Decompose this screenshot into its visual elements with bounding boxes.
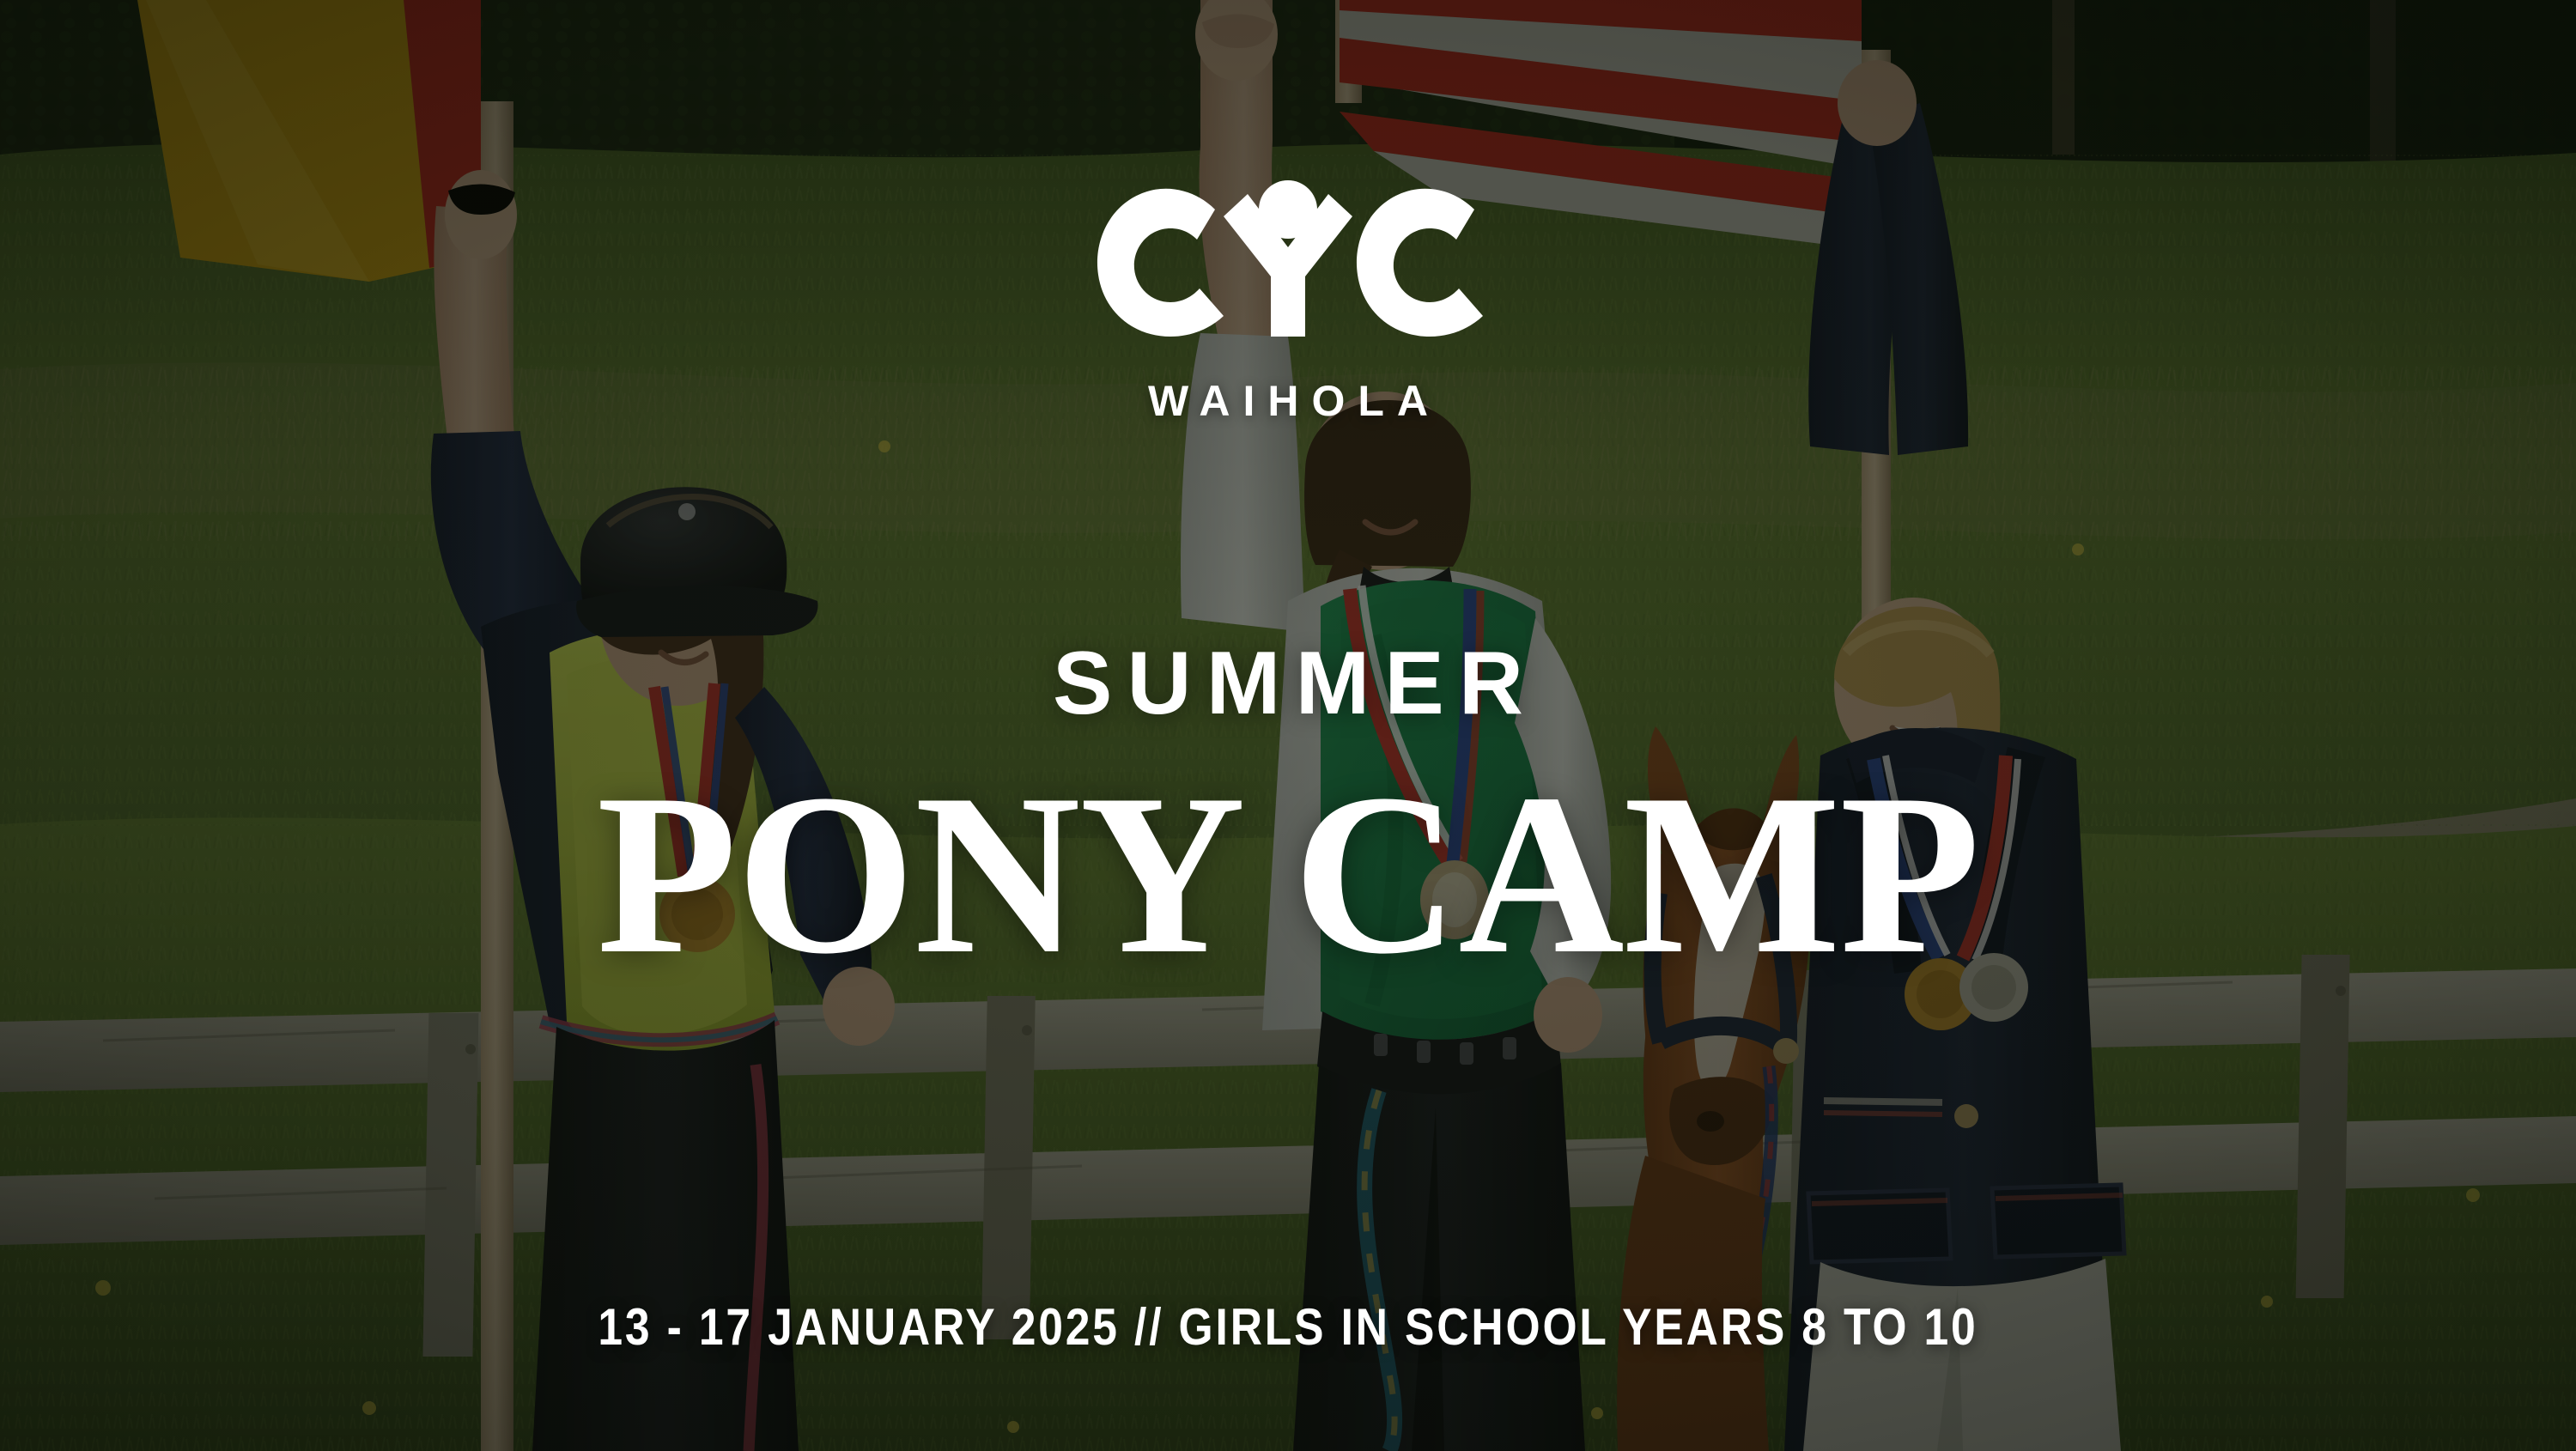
brand-wordmark: WAIHOLA: [1135, 379, 1441, 422]
brand-lockup: WAIHOLA: [1086, 168, 1490, 422]
poster-canvas: WAIHOLA SUMMER PONY CAMP 13 - 17 JANUARY…: [0, 0, 2576, 1451]
event-details-caption: 13 - 17 JANUARY 2025 // GIRLS IN SCHOOL …: [598, 1302, 1978, 1353]
cyc-logo-icon: [1086, 168, 1490, 366]
page-title: PONY CAMP: [597, 759, 1979, 989]
poster-content: WAIHOLA SUMMER PONY CAMP 13 - 17 JANUARY…: [0, 0, 2576, 1451]
headline-kicker: SUMMER: [1038, 639, 1538, 728]
